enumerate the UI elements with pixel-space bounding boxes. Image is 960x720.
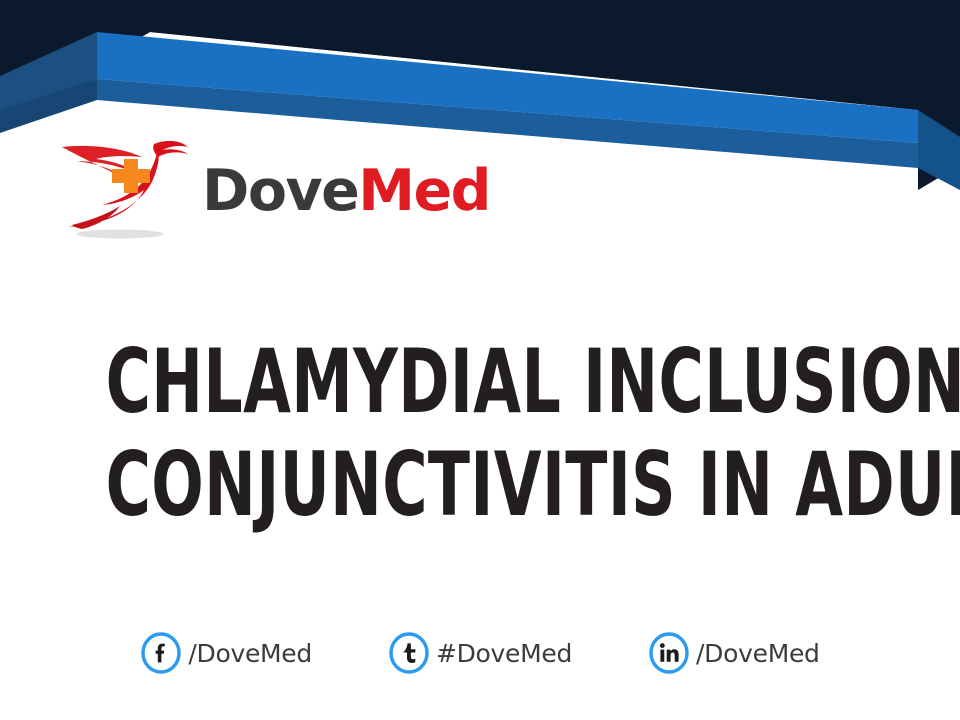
bird-body [68,147,159,227]
ribbon-left-face-lower [0,57,97,131]
ribbon-left-band-top [0,32,97,110]
twitter-icon[interactable] [388,632,430,674]
social-link-linkedin[interactable]: /DoveMed [648,632,820,674]
page-title: CHLAMYDIAL INCLUSION CONJUNCTIVITIS IN A… [0,330,960,536]
dovemed-logo[interactable]: DoveMed [58,132,438,244]
linkedin-icon-bar [660,650,664,662]
logo-word-med: Med [358,158,490,224]
linkedin-icon-glyph [667,649,679,662]
bird-tail [72,206,120,229]
title-line-1: CHLAMYDIAL INCLUSION [106,330,855,433]
social-links-row: /DoveMed #DoveMed /DoveMed [0,632,960,674]
dove-bird-icon [58,133,198,243]
logo-word-dove: Dove [202,158,358,224]
linkedin-icon-dot [660,643,665,648]
ribbon-top-face [97,32,918,143]
ribbon-right-end-cap [918,110,960,190]
facebook-icon[interactable] [140,632,182,674]
facebook-handle-label: /DoveMed [188,639,312,668]
slide-root: DoveMed CHLAMYDIAL INCLUSION CONJUNCTIVI… [0,0,960,720]
title-line-2: CONJUNCTIVITIS IN ADULTS [106,433,855,536]
social-link-facebook[interactable]: /DoveMed [140,632,312,674]
linkedin-icon[interactable] [648,632,690,674]
linkedin-handle-label: /DoveMed [696,639,820,668]
logo-shadow [76,230,164,239]
twitter-icon-glyph [403,643,415,663]
facebook-icon-glyph [156,644,165,663]
twitter-handle-label: #DoveMed [436,639,572,668]
ribbon-left-band-front [0,79,97,133]
ribbon-left-face [0,32,97,131]
social-link-twitter[interactable]: #DoveMed [388,632,572,674]
logo-wordmark: DoveMed [202,163,490,220]
